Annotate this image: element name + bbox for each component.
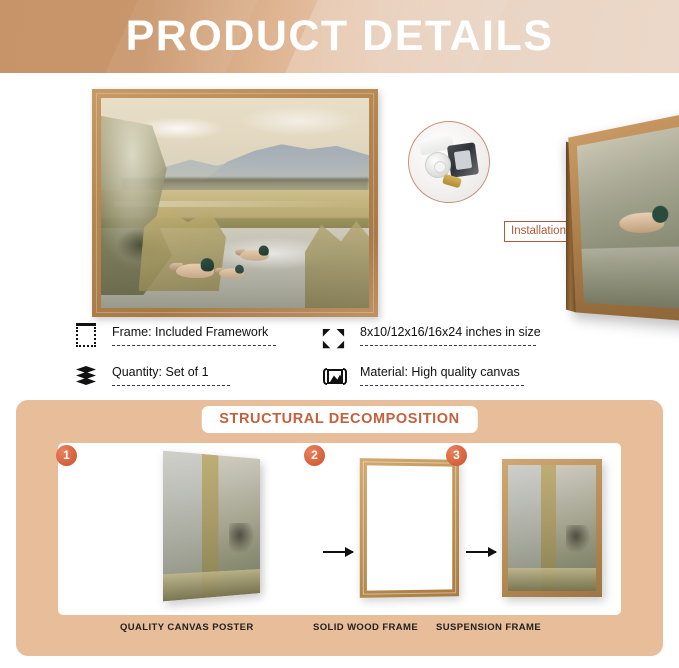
- frame-icon: [74, 326, 100, 350]
- step-badge-3: 3: [446, 445, 467, 466]
- structural-decomposition-panel: STRUCTURAL DECOMPOSITION 1 2 3: [16, 400, 663, 656]
- step-arrow-1: [323, 551, 353, 553]
- feature-label: 8x10/12x16/16x24 inches in size: [360, 325, 541, 340]
- feature-label: Frame: Included Framework: [112, 325, 268, 340]
- feature-grid: Frame: Included Framework Quantity: Set …: [0, 318, 679, 396]
- feature-label: Material: High quality canvas: [360, 365, 520, 380]
- feature-underline: [112, 385, 230, 386]
- feature-underline: [112, 345, 276, 346]
- product-showcase: Installation package: [0, 73, 679, 318]
- layers-icon: [74, 366, 100, 390]
- picture-icon: [322, 366, 348, 390]
- step-caption-3: SUSPENSION FRAME: [436, 622, 541, 633]
- angled-artwork-duck: [619, 212, 665, 235]
- artwork-canvas: [101, 98, 369, 308]
- angled-artwork-canvas: [577, 123, 679, 310]
- header-banner: PRODUCT DETAILS: [0, 0, 679, 73]
- page-title: PRODUCT DETAILS: [0, 0, 679, 73]
- step-badge-2: 2: [304, 445, 325, 466]
- feature-material: Material: High quality canvas: [322, 365, 520, 390]
- decomposition-heading: STRUCTURAL DECOMPOSITION: [201, 406, 478, 433]
- resize-icon: ◤◥◣◢: [322, 326, 348, 350]
- step-caption-2: SOLID WOOD FRAME: [313, 622, 418, 633]
- angled-frame-border: [568, 109, 679, 324]
- framed-artwork: [92, 89, 378, 317]
- step-canvas-poster: [163, 451, 260, 602]
- hardware-bracket: [447, 142, 479, 178]
- feature-text: 8x10/12x16/16x24 inches in size: [360, 325, 541, 346]
- step-suspension-frame: [502, 459, 602, 597]
- feature-text: Frame: Included Framework: [112, 325, 268, 346]
- feature-underline: [360, 385, 524, 386]
- feature-underline: [360, 345, 536, 346]
- feature-size: ◤◥◣◢ 8x10/12x16/16x24 inches in size: [322, 325, 541, 350]
- decomposition-card: 1 2 3: [58, 443, 621, 615]
- step-caption-1: QUALITY CANVAS POSTER: [120, 622, 254, 633]
- feature-text: Quantity: Set of 1: [112, 365, 209, 386]
- angled-framed-artwork: [568, 109, 679, 324]
- feature-text: Material: High quality canvas: [360, 365, 520, 386]
- angled-artwork-water: [581, 246, 679, 310]
- installation-package-photo: [408, 121, 490, 203]
- feature-quantity: Quantity: Set of 1: [74, 365, 209, 390]
- artwork-cloud: [240, 106, 358, 135]
- step-badge-1: 1: [56, 445, 77, 466]
- feature-frame: Frame: Included Framework: [74, 325, 268, 350]
- step-arrow-2: [466, 551, 496, 553]
- step-wood-frame: [360, 458, 459, 598]
- feature-label: Quantity: Set of 1: [112, 365, 209, 380]
- product-details-infographic: PRODUCT DETAILS: [0, 0, 679, 668]
